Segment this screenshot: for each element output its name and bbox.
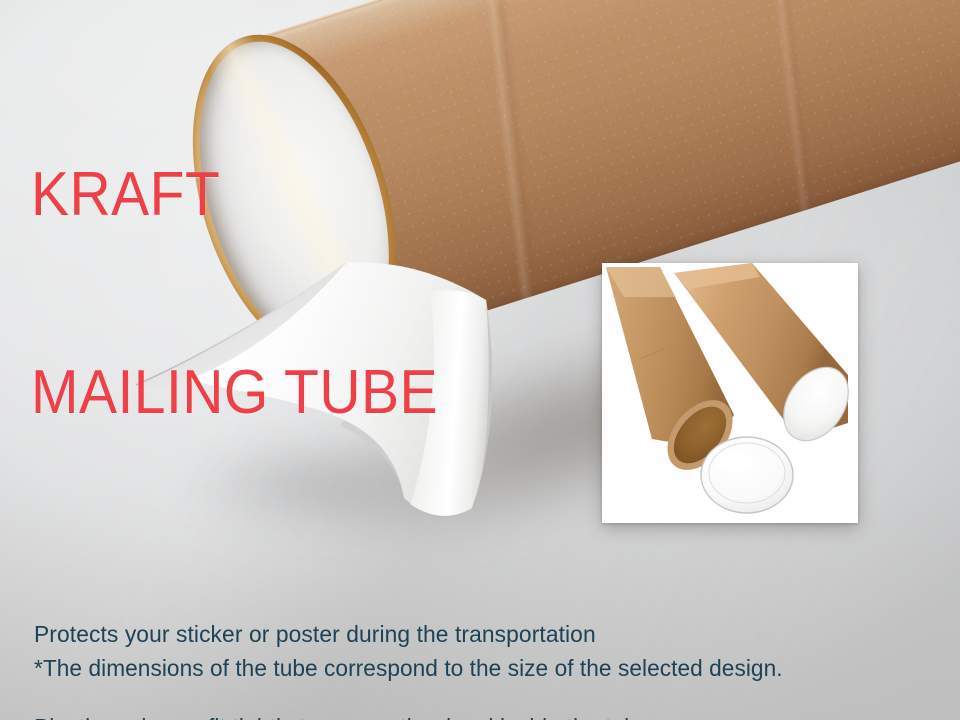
footnote-text: *The dimensions of the tube correspond t…: [34, 653, 783, 683]
benefit-line-2: Plastic end caps fit tightly to secure t…: [34, 712, 650, 720]
inset-product-photo: [602, 263, 858, 523]
benefit-line-1: Protects your sticker or poster during t…: [34, 619, 650, 650]
title-line-1: KRAFT: [31, 162, 438, 228]
page-title: KRAFT MAILING TUBE: [31, 30, 438, 558]
inset-loose-end-cap: [701, 437, 793, 513]
title-line-2: MAILING TUBE: [31, 360, 438, 426]
benefits-text: Protects your sticker or poster during t…: [34, 557, 650, 720]
inset-photo-art: [602, 263, 858, 523]
product-banner: KRAFT MAILING TUBE Protects your sticker…: [0, 0, 960, 720]
